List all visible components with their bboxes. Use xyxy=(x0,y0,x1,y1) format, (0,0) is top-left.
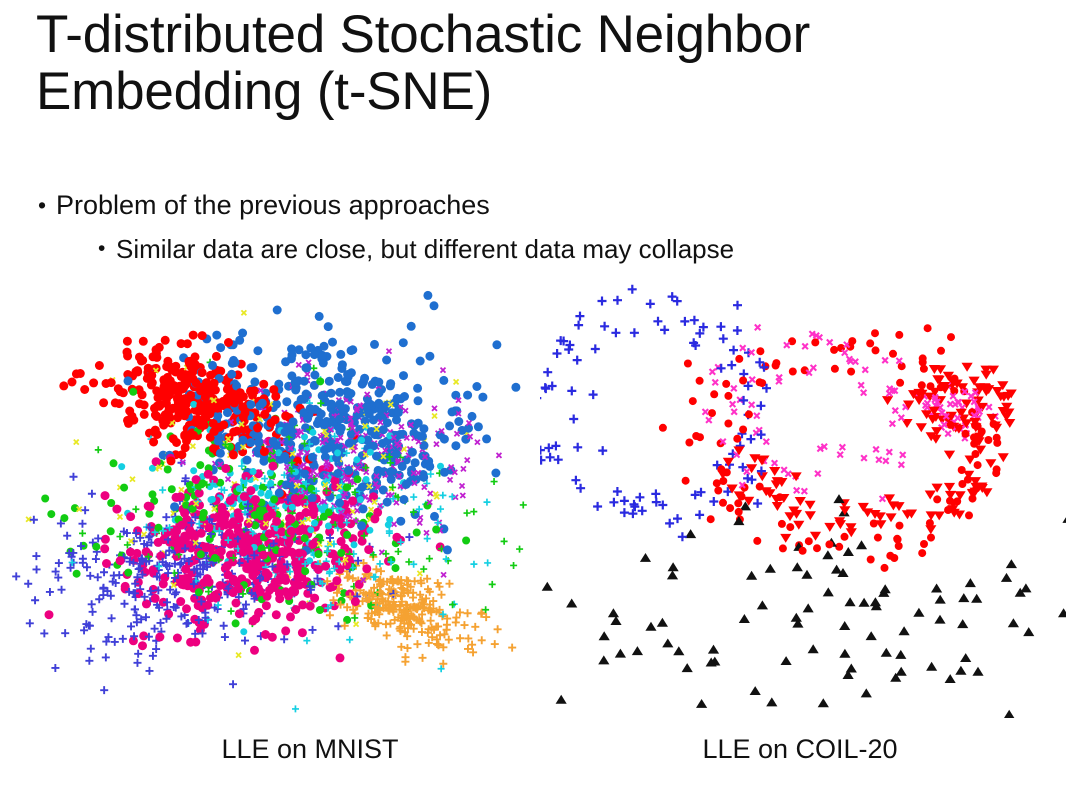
bullet-item-level2: • Similar data are close, but different … xyxy=(98,230,1036,268)
bullet-item-level1: • Problem of the previous approaches xyxy=(38,186,1036,224)
bullet-marker-icon: • xyxy=(98,230,116,268)
page-title: T-distributed Stochastic Neighbor Embedd… xyxy=(36,6,1026,120)
bullet-marker-icon: • xyxy=(38,186,56,224)
figure-caption-mnist: LLE on MNIST xyxy=(110,734,510,764)
bullet-text: Similar data are close, but different da… xyxy=(116,230,734,268)
scatter-plot-lle-coil20 xyxy=(540,278,1066,718)
figure-caption-coil20: LLE on COIL-20 xyxy=(600,734,1000,764)
bullet-list: • Problem of the previous approaches • S… xyxy=(36,186,1036,268)
lle-coil20-canvas xyxy=(540,278,1066,718)
scatter-plot-lle-mnist xyxy=(0,278,540,718)
lle-mnist-canvas xyxy=(0,278,540,718)
slide-canvas: T-distributed Stochastic Neighbor Embedd… xyxy=(0,0,1066,803)
bullet-text: Problem of the previous approaches xyxy=(56,186,490,224)
